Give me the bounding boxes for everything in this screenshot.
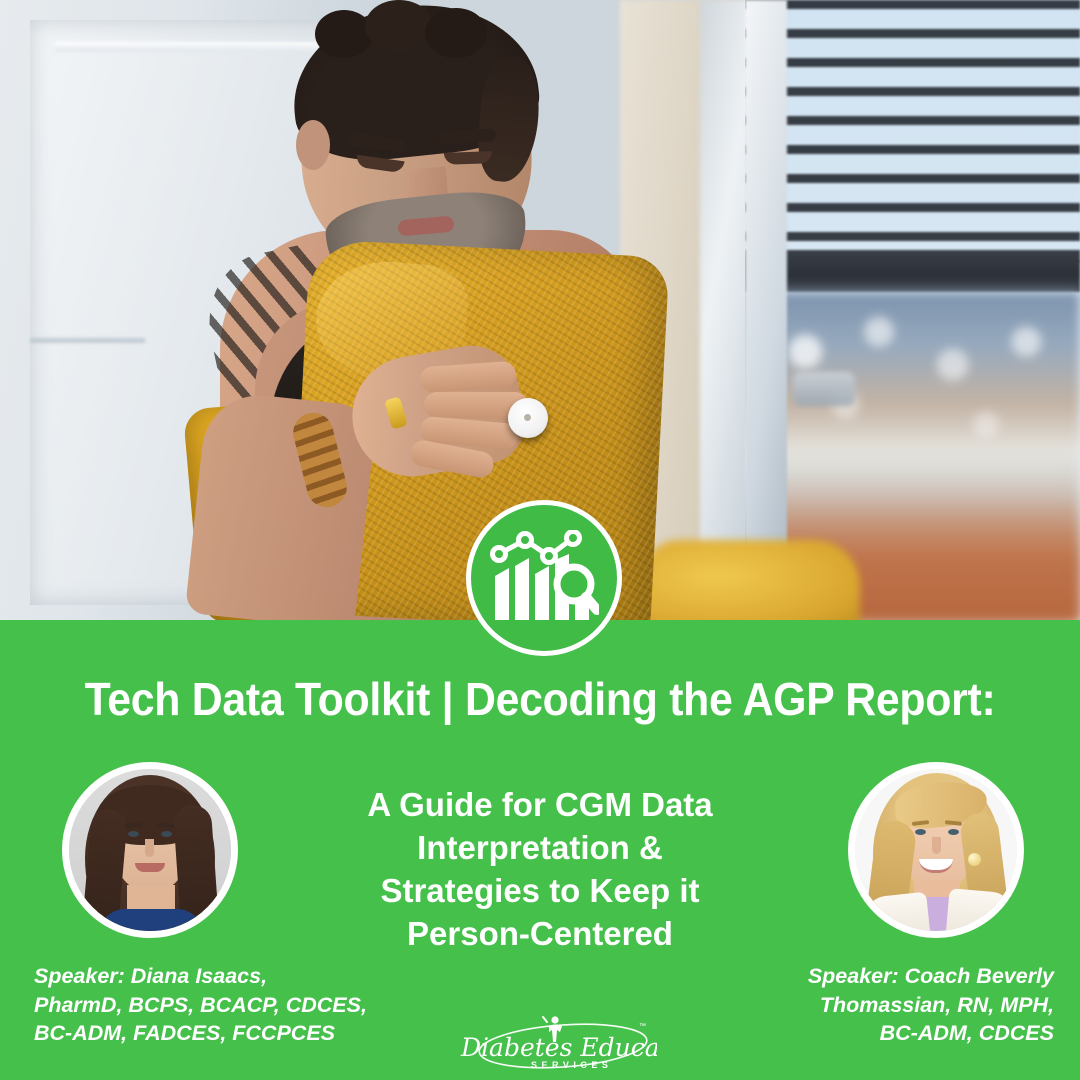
cgm-sensor-center <box>524 414 531 421</box>
hair-curl <box>365 0 433 52</box>
blind-bottom-rail <box>745 250 1080 292</box>
subtitle-line: Strategies to Keep it <box>312 870 768 913</box>
speaker-right-credentials: Speaker: Coach Beverly Thomassian, RN, M… <box>724 962 1054 1048</box>
city-building-glint <box>793 372 855 406</box>
eye <box>161 831 172 837</box>
earring <box>968 853 981 866</box>
logo-wordmark: Diabetes Education <box>460 1033 657 1062</box>
hair-curl <box>425 8 487 58</box>
speaker-left-credentials: Speaker: Diana Isaacs, PharmD, BCPS, BCA… <box>34 962 394 1048</box>
subtitle-line: A Guide for CGM Data <box>312 784 768 827</box>
avatar <box>848 762 1024 938</box>
data-analytics-magnifier-icon <box>466 500 622 656</box>
window-blinds <box>745 0 1080 262</box>
speaker-line: PharmD, BCPS, BCACP, CDCES, <box>34 991 394 1020</box>
speaker-right-photo <box>855 769 1017 931</box>
avatar <box>62 762 238 938</box>
page-title: Tech Data Toolkit | Decoding the AGP Rep… <box>38 676 1042 722</box>
forearm <box>185 390 377 622</box>
nose <box>145 839 154 857</box>
logo-subword: SERVICES <box>531 1060 612 1070</box>
hair-curl <box>315 10 373 58</box>
speaker-line: BC-ADM, FADCES, FCCPCES <box>34 1019 394 1048</box>
speaker-line: Speaker: Coach Beverly <box>724 962 1054 991</box>
window <box>745 0 1080 622</box>
nose <box>932 837 941 854</box>
ear <box>296 120 330 170</box>
eye <box>128 831 139 837</box>
promo-graphic: Tech Data Toolkit | Decoding the AGP Rep… <box>0 0 1080 1080</box>
speaker-line: BC-ADM, CDCES <box>724 1019 1054 1048</box>
brand-logo: Diabetes Education SERVICES ™ <box>443 1012 657 1074</box>
trademark-symbol: ™ <box>639 1023 646 1030</box>
window-jamb-inner <box>745 0 787 622</box>
speaker-line: Speaker: Diana Isaacs, <box>34 962 394 991</box>
speaker-line: Thomassian, RN, MPH, <box>724 991 1054 1020</box>
subtitle-line: Person-Centered <box>312 913 768 956</box>
mouth <box>135 863 165 872</box>
subtitle-line: Interpretation & <box>312 827 768 870</box>
eye <box>948 829 959 835</box>
speaker-left-photo <box>69 769 231 931</box>
subtitle: A Guide for CGM Data Interpretation & St… <box>312 784 768 956</box>
eye <box>915 829 926 835</box>
door-handle-shadow <box>30 338 145 343</box>
